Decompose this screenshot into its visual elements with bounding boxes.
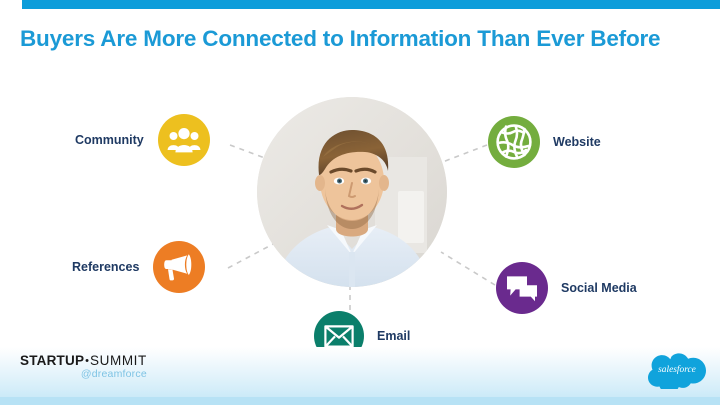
slide-canvas: Buyers Are More Connected to Information… [0, 0, 720, 405]
center-portrait [257, 97, 447, 287]
summit-word: SUMMIT [90, 353, 147, 368]
node-references[interactable]: References [72, 241, 205, 293]
top-accent-bar [22, 0, 720, 9]
node-community[interactable]: Community [75, 114, 210, 166]
startup-word: STARTUP [20, 353, 84, 368]
node-label-social-media: Social Media [561, 281, 637, 295]
connector-references [228, 243, 275, 268]
footer-bottom-edge [0, 397, 720, 405]
connector-social [441, 252, 495, 285]
megaphone-icon [153, 241, 205, 293]
portrait-illustration [257, 97, 447, 287]
speech-bubbles-icon [496, 262, 548, 314]
connector-website [440, 145, 487, 163]
people-group-icon [158, 114, 210, 166]
node-social[interactable]: Social Media [496, 262, 637, 314]
globe-network-icon [488, 116, 540, 168]
startup-summit-logo: STARTUP•SUMMIT @dreamforce [20, 354, 147, 379]
startup-summit-lockup: STARTUP•SUMMIT [20, 354, 147, 368]
node-website[interactable]: Website [488, 116, 601, 168]
salesforce-wordmark: salesforce [658, 364, 696, 375]
slide-title: Buyers Are More Connected to Information… [20, 26, 710, 52]
dreamforce-handle: @dreamforce [20, 369, 147, 380]
salesforce-cloud-icon: salesforce [648, 347, 706, 389]
node-label-website: Website [553, 135, 601, 149]
salesforce-logo: salesforce [648, 347, 706, 389]
node-label-references: References [72, 260, 139, 274]
node-label-community: Community [75, 133, 144, 147]
node-label-email: Email [377, 329, 410, 343]
